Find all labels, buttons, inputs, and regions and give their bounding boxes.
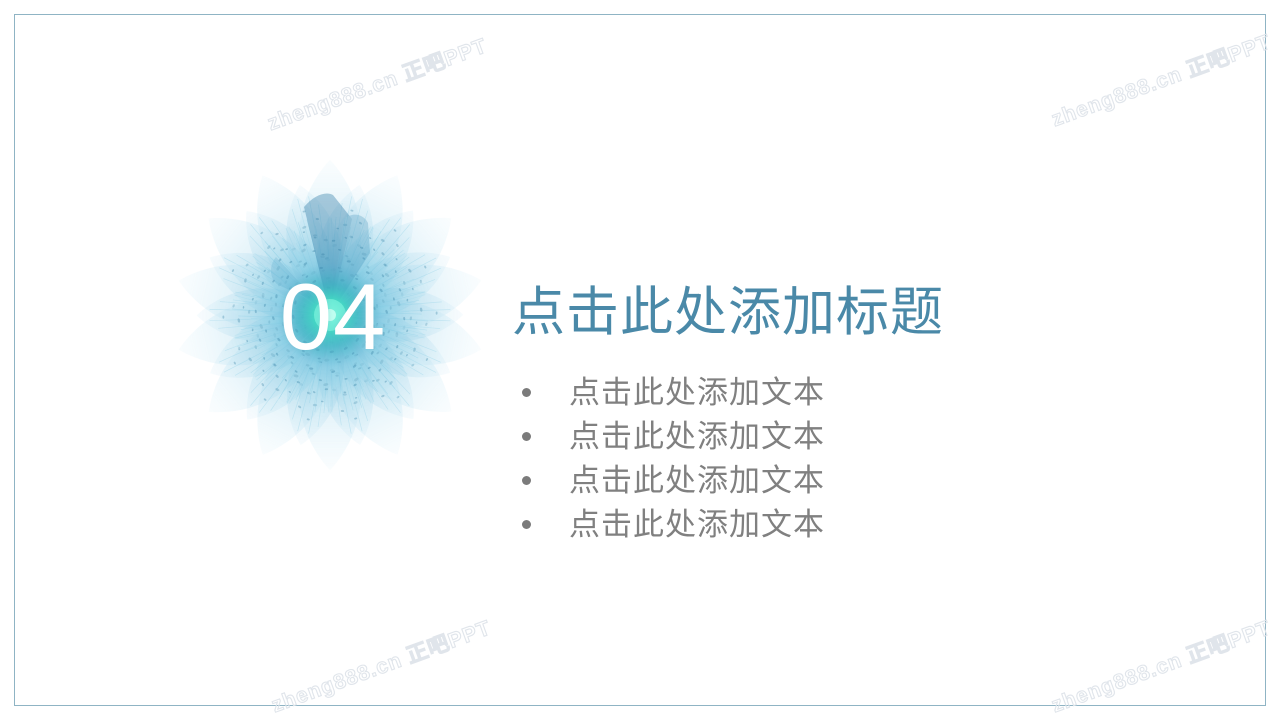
watermark-bottom-right: zheng888.cn 正吧PPT xyxy=(1047,612,1275,719)
bullet-list: 点击此处添加文本 点击此处添加文本 点击此处添加文本 点击此处添加文本 xyxy=(512,370,1212,546)
bullet-point-icon xyxy=(522,476,531,485)
section-flower-badge: 04 xyxy=(170,155,490,475)
watermark-bottom-left: zheng888.cn 正吧PPT xyxy=(267,612,495,719)
list-item-label: 点击此处添加文本 xyxy=(569,509,825,540)
list-item-label: 点击此处添加文本 xyxy=(569,377,825,408)
list-item-label: 点击此处添加文本 xyxy=(569,465,825,496)
list-item[interactable]: 点击此处添加文本 xyxy=(512,414,1212,458)
slide-content-block: 点击此处添加标题 点击此处添加文本 点击此处添加文本 点击此处添加文本 点击此处… xyxy=(512,283,1212,546)
list-item[interactable]: 点击此处添加文本 xyxy=(512,502,1212,546)
bullet-point-icon xyxy=(522,432,531,441)
list-item[interactable]: 点击此处添加文本 xyxy=(512,458,1212,502)
section-number: 04 xyxy=(170,155,490,475)
presentation-slide: 04 点击此处添加标题 点击此处添加文本 点击此处添加文本 点击此处添加文本 点… xyxy=(0,0,1280,720)
bullet-point-icon xyxy=(522,520,531,529)
watermark-top-left: zheng888.cn 正吧PPT xyxy=(263,30,491,137)
list-item-label: 点击此处添加文本 xyxy=(569,421,825,452)
slide-title[interactable]: 点击此处添加标题 xyxy=(512,283,1212,342)
list-item[interactable]: 点击此处添加文本 xyxy=(512,370,1212,414)
bullet-point-icon xyxy=(522,388,531,397)
watermark-top-right: zheng888.cn 正吧PPT xyxy=(1047,26,1275,133)
